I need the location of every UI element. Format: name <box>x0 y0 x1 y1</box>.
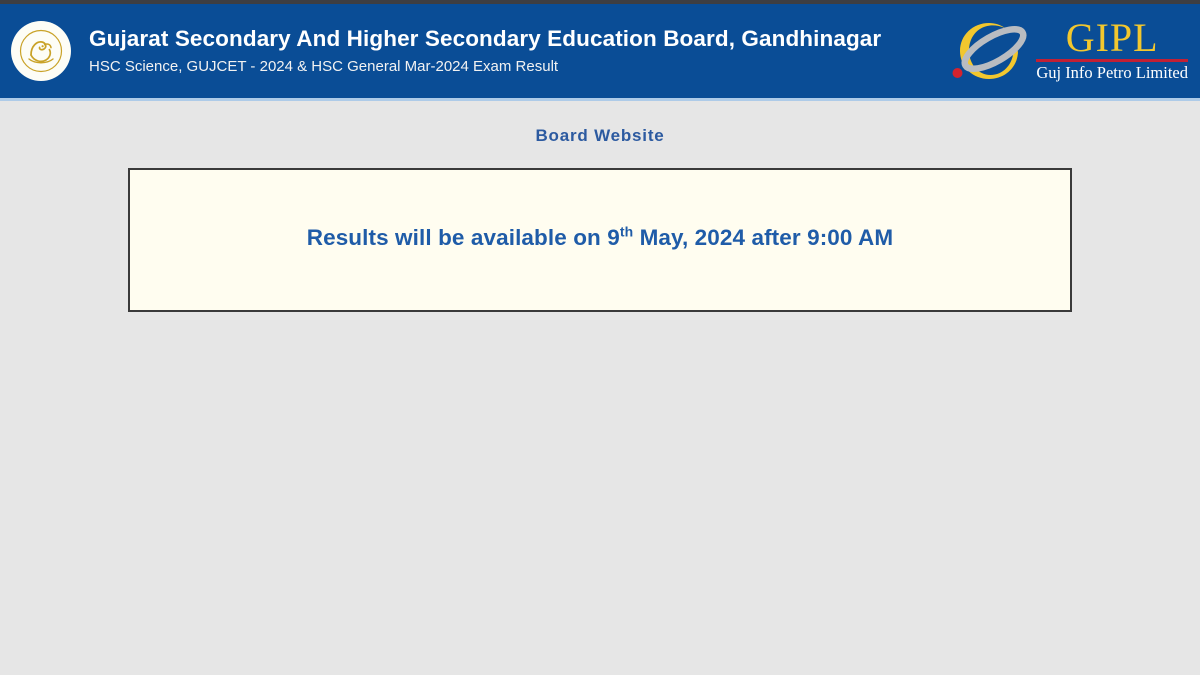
notice-text-before: Results will be available on 9 <box>307 225 620 250</box>
result-notice-box: Results will be available on 9th May, 20… <box>128 168 1072 312</box>
header-title-block: Gujarat Secondary And Higher Secondary E… <box>89 26 946 76</box>
notice-text-after: May, 2024 after 9:00 AM <box>633 225 893 250</box>
gipl-wordmark: GIPL Guj Info Petro Limited <box>1036 19 1188 82</box>
page-body: Board Website Results will be available … <box>0 101 1200 675</box>
gipl-swoosh-icon <box>946 18 1042 84</box>
gipl-tagline-text: Guj Info Petro Limited <box>1036 64 1188 82</box>
gipl-brand-logo: GIPL Guj Info Petro Limited <box>946 18 1188 84</box>
board-seal-swan-emblem-icon <box>11 21 71 81</box>
board-website-link[interactable]: Board Website <box>0 101 1200 146</box>
notice-ordinal-suffix: th <box>620 224 633 240</box>
site-header: Gujarat Secondary And Higher Secondary E… <box>0 4 1200 98</box>
gipl-red-rule <box>1036 59 1188 62</box>
page-subtitle: HSC Science, GUJCET - 2024 & HSC General… <box>89 58 946 76</box>
page-title: Gujarat Secondary And Higher Secondary E… <box>89 26 946 52</box>
gipl-acronym-text: GIPL <box>1066 19 1159 57</box>
result-notice-text: Results will be available on 9th May, 20… <box>307 225 894 251</box>
